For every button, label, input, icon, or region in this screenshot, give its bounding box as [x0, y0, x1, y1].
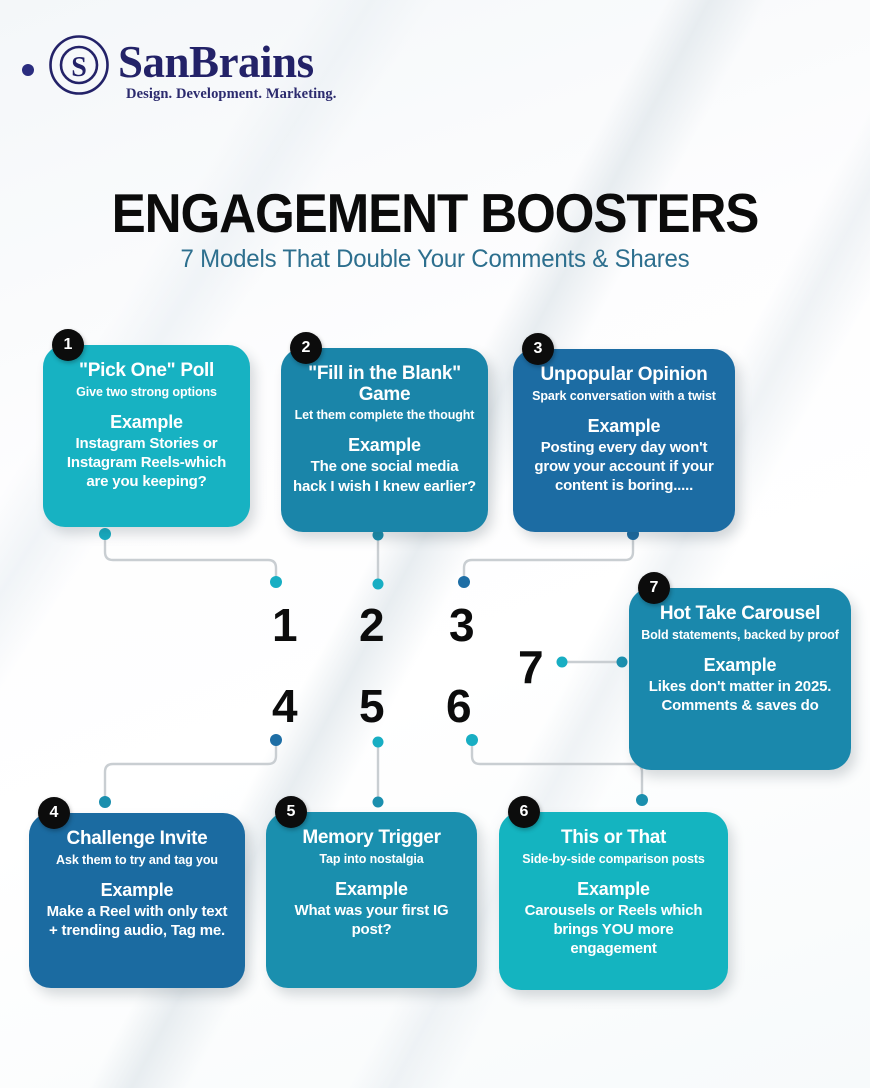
- card-memory-trigger[interactable]: 5 Memory Trigger Tap into nostalgia Exam…: [266, 812, 477, 988]
- connector-dot: [466, 734, 478, 746]
- step-number-3: 3: [449, 602, 474, 648]
- card-subtitle: Tap into nostalgia: [278, 852, 465, 866]
- card-badge-5: 5: [275, 796, 307, 828]
- connector-dot: [636, 794, 648, 806]
- card-title: Challenge Invite: [41, 829, 233, 850]
- card-example-text: Likes don't matter in 2025. Comments & s…: [641, 677, 839, 715]
- step-number-6: 6: [446, 683, 471, 729]
- card-title: "Pick One" Poll: [55, 361, 238, 382]
- card-example-label: Example: [55, 412, 238, 433]
- card-subtitle: Give two strong options: [55, 385, 238, 399]
- card-title: Hot Take Carousel: [641, 604, 839, 625]
- card-example-label: Example: [293, 435, 476, 456]
- card-title: This or That: [511, 828, 716, 849]
- card-fill-in-the-blank-game[interactable]: 2 "Fill in the Blank" Game Let them comp…: [281, 348, 488, 532]
- card-example-label: Example: [641, 655, 839, 676]
- svg-text:S: S: [71, 52, 87, 83]
- connector-dot: [99, 528, 111, 540]
- step-number-5: 5: [359, 683, 384, 729]
- card-subtitle: Spark conversation with a twist: [525, 389, 723, 403]
- infographic-canvas: S SanBrains Design. Development. Marketi…: [0, 0, 870, 1088]
- card-example-text: What was your first IG post?: [278, 901, 465, 939]
- card-badge-3: 3: [522, 333, 554, 365]
- brand-wordmark: SanBrains: [118, 36, 314, 88]
- card-pick-one-poll[interactable]: 1 "Pick One" Poll Give two strong option…: [43, 345, 250, 527]
- card-subtitle: Bold statements, backed by proof: [641, 628, 839, 642]
- card-subtitle: Side-by-side comparison posts: [511, 852, 716, 866]
- card-subtitle: Let them complete the thought: [293, 408, 476, 422]
- connector-dot: [270, 734, 282, 746]
- brand-logo: S SanBrains Design. Development. Marketi…: [22, 24, 382, 108]
- card-badge-6: 6: [508, 796, 540, 828]
- card-subtitle: Ask them to try and tag you: [41, 853, 233, 867]
- step-number-1: 1: [272, 602, 297, 648]
- connector-dot: [617, 657, 628, 668]
- connector-dot: [458, 576, 470, 588]
- logo-circle-s-icon: S: [48, 34, 110, 96]
- connector-dot: [373, 579, 384, 590]
- connector-dot: [373, 797, 384, 808]
- step-number-7: 7: [518, 644, 543, 690]
- step-number-4: 4: [272, 683, 297, 729]
- page-subtitle: 7 Models That Double Your Comments & Sha…: [17, 245, 852, 274]
- card-challenge-invite[interactable]: 4 Challenge Invite Ask them to try and t…: [29, 813, 245, 988]
- card-hot-take-carousel[interactable]: 7 Hot Take Carousel Bold statements, bac…: [629, 588, 851, 770]
- card-example-label: Example: [278, 879, 465, 900]
- logo-dot-icon: [22, 64, 34, 76]
- card-this-or-that[interactable]: 6 This or That Side-by-side comparison p…: [499, 812, 728, 990]
- card-badge-2: 2: [290, 332, 322, 364]
- page-title: ENGAGEMENT BOOSTERS: [30, 181, 839, 245]
- step-number-2: 2: [359, 602, 384, 648]
- connector-dot: [373, 737, 384, 748]
- connector-dot: [557, 657, 568, 668]
- card-example-text: Instagram Stories or Instagram Reels-whi…: [55, 434, 238, 492]
- card-example-text: Posting every day won't grow your accoun…: [525, 438, 723, 496]
- card-example-label: Example: [41, 880, 233, 901]
- connector-dot: [270, 576, 282, 588]
- card-example-text: Carousels or Reels which brings YOU more…: [511, 901, 716, 959]
- card-example-text: Make a Reel with only text + trending au…: [41, 902, 233, 940]
- card-badge-4: 4: [38, 797, 70, 829]
- card-unpopular-opinion[interactable]: 3 Unpopular Opinion Spark conversation w…: [513, 349, 735, 532]
- card-title: Memory Trigger: [278, 828, 465, 849]
- card-title: Unpopular Opinion: [525, 365, 723, 386]
- card-badge-7: 7: [638, 572, 670, 604]
- brand-tagline: Design. Development. Marketing.: [126, 86, 337, 103]
- card-badge-1: 1: [52, 329, 84, 361]
- card-title: "Fill in the Blank" Game: [293, 364, 476, 405]
- card-example-text: The one social media hack I wish I knew …: [293, 457, 476, 495]
- card-example-label: Example: [511, 879, 716, 900]
- card-example-label: Example: [525, 416, 723, 437]
- connector-dot: [99, 796, 111, 808]
